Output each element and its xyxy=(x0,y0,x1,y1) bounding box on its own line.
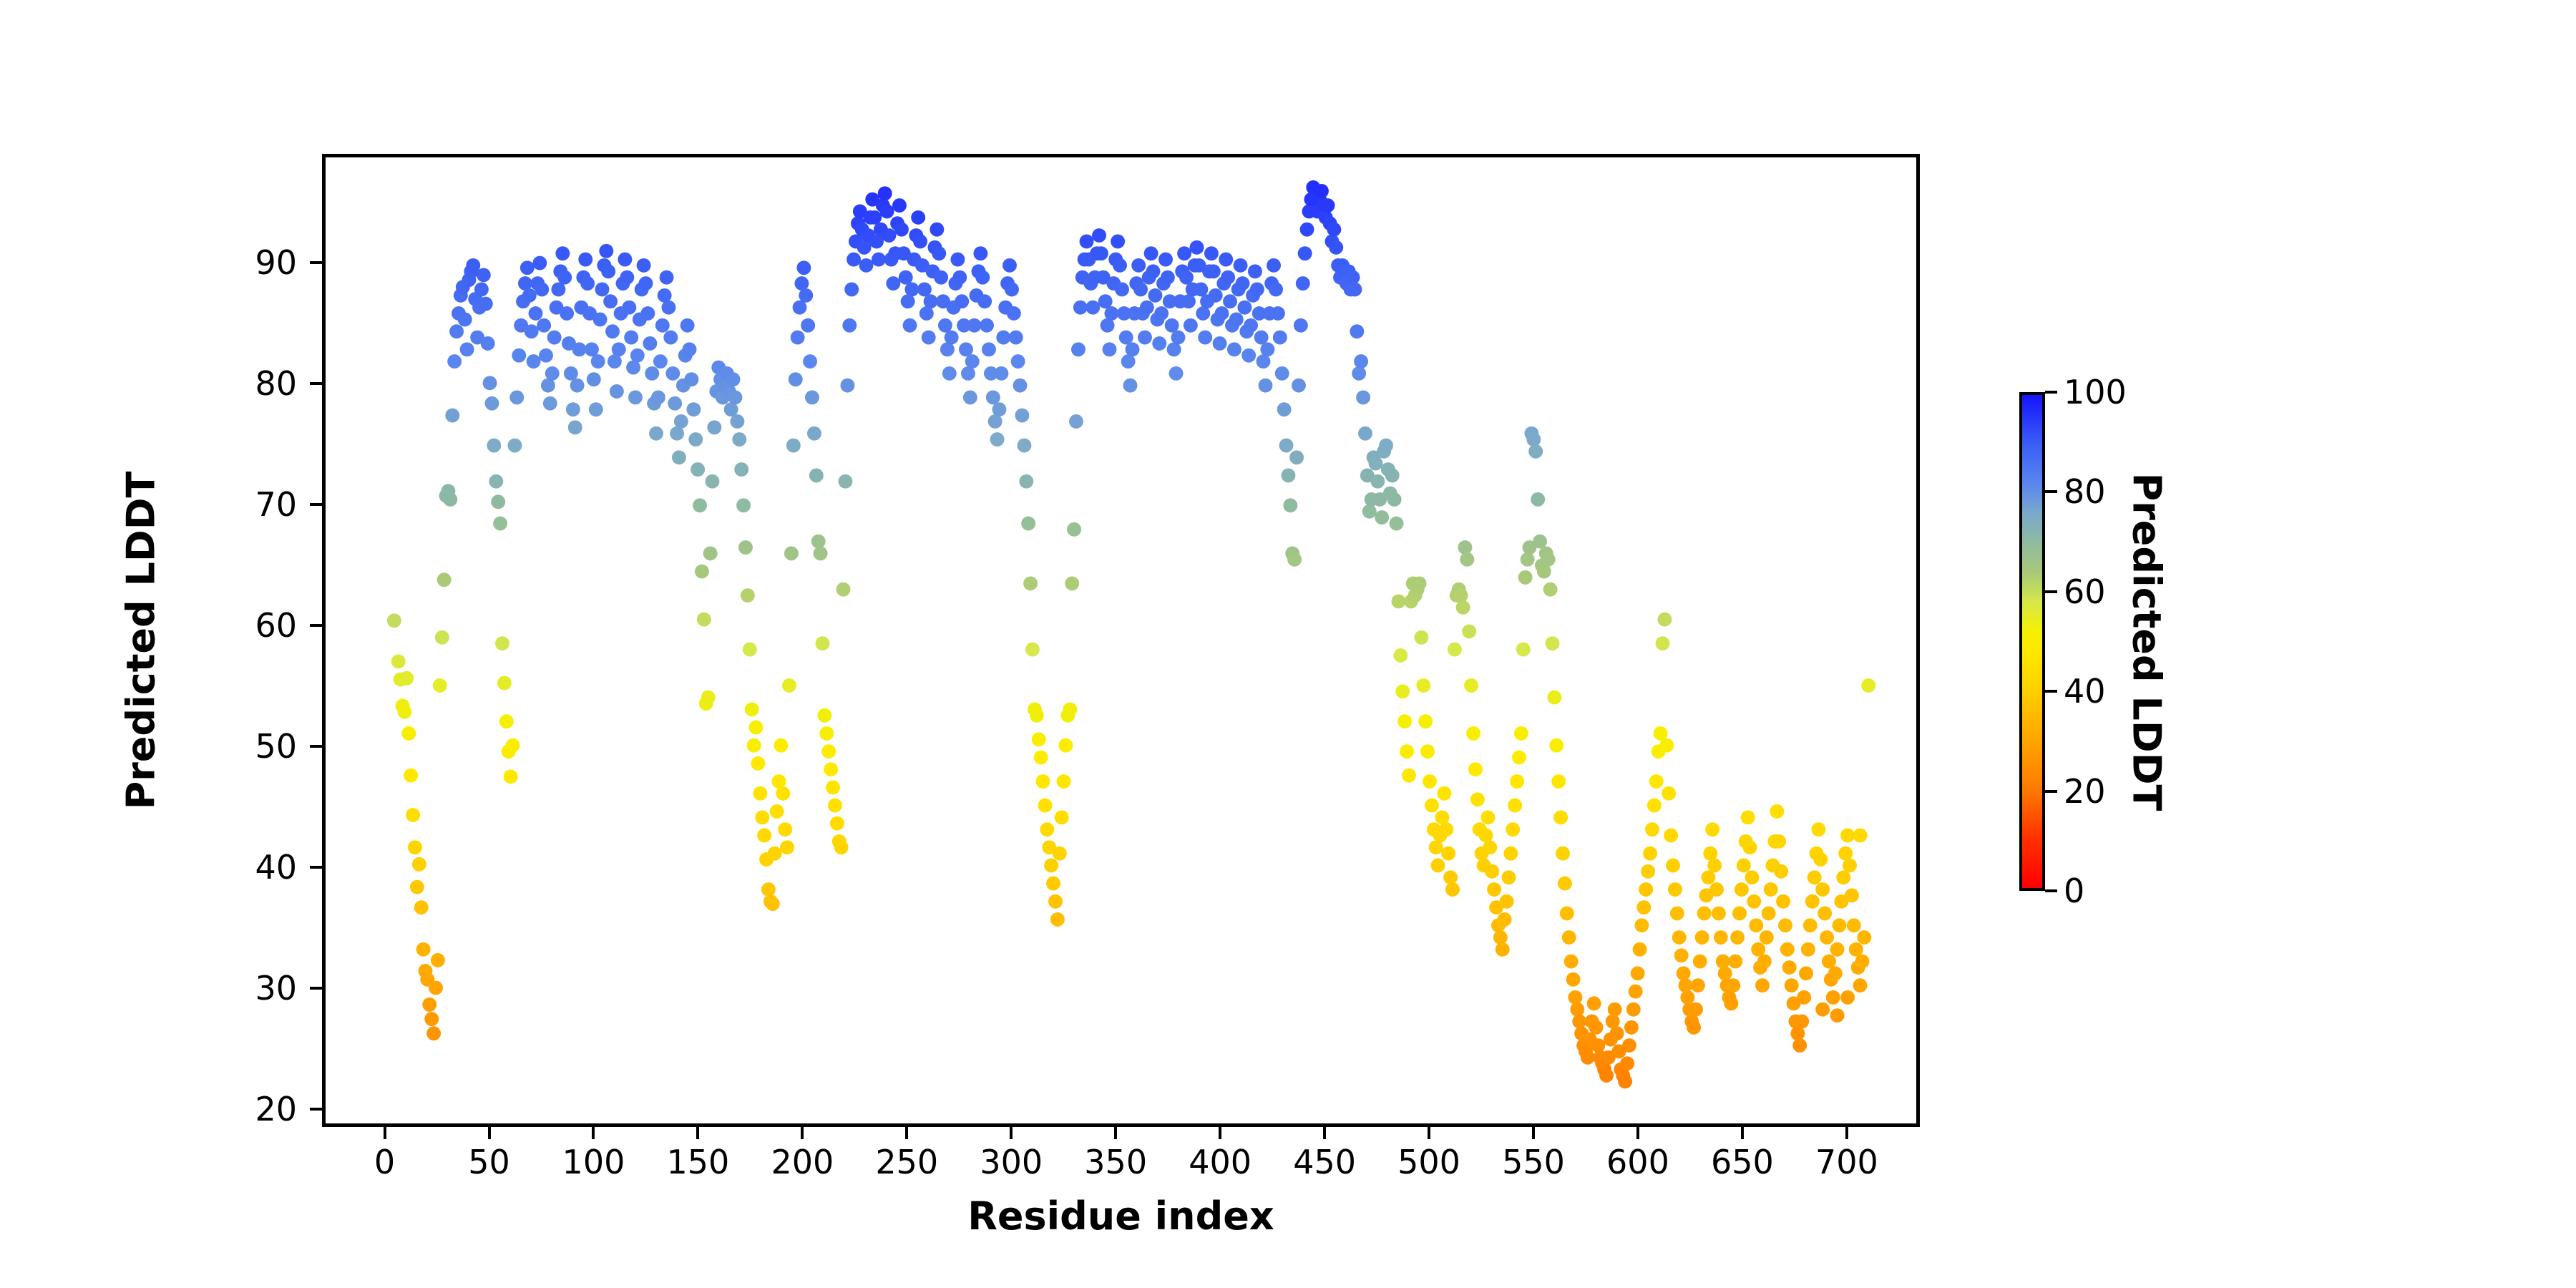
scatter-point xyxy=(1785,978,1799,992)
scatter-point xyxy=(1581,1050,1595,1065)
scatter-point xyxy=(674,414,688,429)
scatter-point xyxy=(911,210,925,225)
scatter-point xyxy=(1656,636,1670,650)
y-tick-label: 20 xyxy=(255,1090,297,1128)
scatter-point xyxy=(1215,306,1229,321)
scatter-point xyxy=(1803,918,1818,932)
colorbar-tick-label: 20 xyxy=(2064,772,2106,811)
scatter-point xyxy=(1283,498,1297,512)
scatter-point xyxy=(844,283,859,297)
scatter-point xyxy=(1466,726,1480,741)
x-tick-mark xyxy=(1010,1127,1013,1139)
scatter-point xyxy=(1423,774,1437,789)
x-tick-mark xyxy=(1636,1127,1639,1139)
scatter-point xyxy=(1737,859,1751,873)
scatter-point xyxy=(660,270,674,285)
scatter-point xyxy=(1234,258,1248,273)
y-tick-label: 80 xyxy=(255,364,297,403)
scatter-point xyxy=(570,379,585,393)
scatter-point xyxy=(1133,283,1148,297)
scatter-point xyxy=(568,420,582,434)
scatter-point xyxy=(1431,859,1445,873)
scatter-point xyxy=(1672,930,1687,945)
x-axis-label: Residue index xyxy=(322,1194,1920,1239)
scatter-point xyxy=(1774,864,1788,879)
scatter-point xyxy=(1269,283,1283,297)
scatter-point xyxy=(1818,907,1832,921)
scatter-point xyxy=(1568,990,1582,1005)
scatter-point xyxy=(1184,318,1198,333)
scatter-point xyxy=(1847,918,1861,932)
scatter-point xyxy=(1013,379,1028,393)
scatter-point xyxy=(1674,948,1689,962)
scatter-point xyxy=(618,253,632,267)
scatter-point xyxy=(686,402,701,416)
scatter-point xyxy=(663,331,678,345)
scatter-point xyxy=(661,301,675,315)
scatter-point xyxy=(726,372,741,386)
scatter-point xyxy=(431,953,445,967)
scatter-point xyxy=(406,808,420,822)
scatter-point xyxy=(1487,882,1501,897)
scatter-point xyxy=(1391,595,1405,609)
scatter-point xyxy=(805,390,819,404)
scatter-point xyxy=(1002,258,1017,273)
scatter-point xyxy=(1506,822,1520,836)
x-tick-mark xyxy=(1532,1127,1535,1139)
scatter-point xyxy=(882,228,897,243)
scatter-point xyxy=(738,540,753,555)
scatter-point xyxy=(982,342,996,356)
scatter-point xyxy=(1861,678,1875,693)
scatter-point xyxy=(684,372,698,386)
x-tick-mark xyxy=(1845,1127,1848,1139)
scatter-point xyxy=(1556,847,1570,861)
scatter-point xyxy=(880,205,894,219)
scatter-point xyxy=(1395,684,1410,698)
scatter-point xyxy=(743,643,757,657)
x-tick-mark xyxy=(905,1127,908,1139)
scatter-point xyxy=(1620,1056,1634,1070)
scatter-point xyxy=(842,318,857,333)
scatter-point xyxy=(728,390,742,404)
scatter-point xyxy=(672,450,686,464)
scatter-point xyxy=(780,840,794,854)
scatter-point xyxy=(591,354,605,369)
scatter-point xyxy=(1005,283,1019,297)
scatter-point xyxy=(1776,894,1790,909)
scatter-point xyxy=(484,396,499,411)
scatter-point xyxy=(399,671,414,686)
scatter-point xyxy=(1279,439,1294,453)
scatter-point xyxy=(996,331,1010,345)
scatter-point xyxy=(1171,331,1185,345)
scatter-point xyxy=(1445,882,1460,897)
y-tick-mark xyxy=(310,261,322,264)
scatter-point xyxy=(599,244,613,258)
scatter-point xyxy=(1229,312,1244,326)
colorbar: 020406080100 xyxy=(2019,392,2045,891)
scatter-points-layer xyxy=(326,157,1916,1123)
scatter-point xyxy=(782,678,796,693)
scatter-point xyxy=(693,498,707,512)
scatter-point xyxy=(1830,1008,1845,1023)
scatter-point xyxy=(955,294,969,308)
x-tick-mark xyxy=(1219,1127,1221,1139)
scatter-point xyxy=(605,324,620,338)
scatter-point xyxy=(1610,1026,1624,1040)
scatter-point xyxy=(1400,744,1414,758)
scatter-point xyxy=(836,582,851,597)
scatter-point xyxy=(412,857,426,872)
scatter-point xyxy=(474,283,489,297)
scatter-point xyxy=(741,588,755,602)
scatter-point xyxy=(899,270,913,285)
x-tick-mark xyxy=(1428,1127,1430,1139)
scatter-point xyxy=(509,390,524,404)
scatter-point xyxy=(1792,1038,1807,1053)
scatter-point xyxy=(1460,552,1474,567)
scatter-point xyxy=(1354,354,1368,369)
scatter-point xyxy=(1271,306,1285,321)
scatter-point xyxy=(1275,366,1289,381)
colorbar-tick-mark xyxy=(2045,490,2057,493)
scatter-point xyxy=(1485,864,1499,879)
scatter-point xyxy=(1206,264,1221,278)
scatter-point xyxy=(1025,643,1040,657)
scatter-point xyxy=(977,294,992,308)
figure-canvas: 0501001502002503003504004505005506006507… xyxy=(0,0,2576,1288)
scatter-point xyxy=(749,721,763,735)
scatter-point xyxy=(1659,738,1674,753)
scatter-point xyxy=(1599,1068,1614,1083)
colorbar-gradient xyxy=(2019,392,2045,891)
scatter-point xyxy=(878,186,892,200)
scatter-point xyxy=(1680,990,1694,1005)
scatter-point xyxy=(630,348,645,363)
scatter-point xyxy=(945,331,959,345)
scatter-point xyxy=(1591,1038,1605,1053)
scatter-point xyxy=(1701,870,1715,884)
scatter-point xyxy=(1470,792,1485,806)
scatter-point xyxy=(894,223,909,237)
scatter-point xyxy=(886,276,900,291)
scatter-point xyxy=(1618,1074,1632,1088)
scatter-point xyxy=(1549,738,1563,753)
scatter-point xyxy=(433,678,447,693)
scatter-point xyxy=(543,396,557,411)
scatter-point xyxy=(537,318,551,333)
scatter-point xyxy=(1144,246,1158,260)
scatter-point xyxy=(1369,457,1383,471)
scatter-point xyxy=(1007,306,1021,321)
scatter-point xyxy=(491,494,505,509)
scatter-point xyxy=(495,636,509,650)
scatter-point xyxy=(680,318,695,333)
scatter-point xyxy=(1103,342,1117,356)
scatter-point xyxy=(1500,894,1514,909)
scatter-point xyxy=(965,354,980,369)
scatter-point xyxy=(1743,840,1757,854)
scatter-point xyxy=(1259,379,1273,393)
scatter-point xyxy=(1716,955,1730,969)
scatter-point xyxy=(938,318,952,333)
scatter-point xyxy=(1815,1002,1830,1017)
scatter-point xyxy=(653,354,668,369)
scatter-point xyxy=(1161,270,1175,285)
scatter-point xyxy=(1009,331,1023,345)
x-tick-label: 600 xyxy=(1606,1143,1669,1181)
scatter-point xyxy=(799,288,813,303)
scatter-point xyxy=(1728,955,1742,969)
scatter-point xyxy=(1034,751,1048,765)
scatter-point xyxy=(768,847,782,861)
scatter-point xyxy=(959,342,973,356)
scatter-point xyxy=(816,636,830,650)
scatter-point xyxy=(1533,535,1547,549)
scatter-point xyxy=(1551,774,1566,789)
scatter-point xyxy=(1689,1002,1703,1017)
scatter-point xyxy=(1641,864,1655,879)
colorbar-tick-label: 100 xyxy=(2064,373,2127,411)
scatter-point xyxy=(1677,966,1691,980)
scatter-point xyxy=(1840,829,1855,843)
scatter-point xyxy=(612,342,626,356)
scatter-point xyxy=(1204,246,1219,260)
scatter-point xyxy=(932,246,946,260)
scatter-point xyxy=(1221,270,1235,285)
scatter-point xyxy=(1670,907,1684,921)
scatter-point xyxy=(1292,379,1306,393)
x-tick-mark xyxy=(801,1127,804,1139)
scatter-point xyxy=(466,258,480,273)
scatter-point xyxy=(1668,882,1682,897)
scatter-point xyxy=(1057,774,1071,789)
scatter-point xyxy=(828,799,842,813)
scatter-point xyxy=(1362,504,1377,519)
x-tick-label: 50 xyxy=(468,1143,510,1181)
scatter-point xyxy=(1085,301,1100,315)
scatter-point xyxy=(1227,342,1241,356)
scatter-point xyxy=(1566,972,1581,987)
scatter-point xyxy=(481,336,495,351)
scatter-point xyxy=(986,390,1000,404)
scatter-point xyxy=(811,535,826,549)
scatter-point xyxy=(1562,930,1576,945)
scatter-point xyxy=(1158,253,1173,267)
scatter-point xyxy=(1165,318,1179,333)
scatter-point xyxy=(1094,246,1108,260)
scatter-point xyxy=(532,256,547,270)
y-tick-label: 30 xyxy=(255,969,297,1008)
scatter-point xyxy=(649,426,663,441)
scatter-point xyxy=(522,288,537,303)
scatter-point xyxy=(1154,306,1169,321)
scatter-point xyxy=(1726,978,1740,992)
scatter-point xyxy=(610,384,624,399)
scatter-point xyxy=(745,702,759,716)
scatter-point xyxy=(1828,966,1843,980)
scatter-point xyxy=(1030,708,1044,723)
scatter-point xyxy=(1516,643,1531,657)
scatter-point xyxy=(655,318,670,333)
scatter-point xyxy=(1048,894,1063,909)
scatter-point xyxy=(838,474,852,489)
scatter-point xyxy=(1801,942,1815,957)
scatter-point xyxy=(1560,907,1574,921)
y-tick-label: 40 xyxy=(255,848,297,887)
scatter-point xyxy=(1456,600,1470,615)
scatter-point xyxy=(1735,882,1749,897)
scatter-point xyxy=(504,769,518,784)
scatter-point xyxy=(994,366,1008,381)
scatter-point xyxy=(1443,870,1458,884)
scatter-point xyxy=(1845,888,1859,902)
scatter-point xyxy=(967,318,982,333)
y-tick-label: 70 xyxy=(255,485,297,524)
scatter-point xyxy=(1639,882,1653,897)
x-tick-mark xyxy=(592,1127,595,1139)
scatter-point xyxy=(793,301,807,315)
scatter-point xyxy=(761,882,776,897)
scatter-point xyxy=(1250,283,1264,297)
scatter-point xyxy=(1458,540,1472,555)
scatter-point xyxy=(1209,288,1223,303)
scatter-point xyxy=(1329,240,1343,255)
x-tick-label: 350 xyxy=(1084,1143,1147,1181)
scatter-point xyxy=(1724,996,1738,1010)
scatter-point xyxy=(774,738,788,753)
scatter-point xyxy=(414,900,429,914)
scatter-point xyxy=(1564,955,1579,969)
scatter-point xyxy=(493,517,507,531)
scatter-point xyxy=(1046,877,1060,891)
scatter-point xyxy=(1223,294,1237,308)
scatter-point xyxy=(1441,847,1455,861)
scatter-point xyxy=(826,781,840,795)
scatter-point xyxy=(904,283,919,297)
scatter-point xyxy=(1709,882,1724,897)
scatter-point xyxy=(506,738,520,753)
scatter-point xyxy=(1402,769,1416,783)
scatter-point xyxy=(410,880,424,894)
scatter-point xyxy=(1015,409,1029,423)
scatter-point xyxy=(1346,270,1360,285)
scatter-point xyxy=(477,268,491,282)
scatter-point xyxy=(1849,942,1863,957)
scatter-point xyxy=(1040,822,1054,836)
scatter-point xyxy=(1483,840,1497,854)
scatter-point xyxy=(867,210,882,225)
scatter-point xyxy=(603,294,618,308)
x-tick-mark xyxy=(1114,1127,1117,1139)
scatter-point xyxy=(1321,198,1335,213)
scatter-point xyxy=(1521,552,1535,567)
scatter-point xyxy=(1813,852,1828,867)
scatter-point xyxy=(1017,439,1031,453)
scatter-point xyxy=(1645,822,1659,836)
scatter-point xyxy=(1547,691,1561,705)
scatter-point xyxy=(628,390,643,404)
scatter-point xyxy=(1707,859,1722,873)
scatter-point xyxy=(1073,301,1088,315)
x-tick-label: 500 xyxy=(1397,1143,1460,1181)
scatter-point xyxy=(564,366,578,381)
scatter-point xyxy=(489,474,503,489)
scatter-point xyxy=(1105,306,1119,321)
x-tick-label: 300 xyxy=(980,1143,1043,1181)
scatter-point xyxy=(1666,859,1680,873)
scatter-point xyxy=(1152,336,1166,351)
scatter-point xyxy=(447,354,462,369)
scatter-point xyxy=(1021,517,1035,531)
colorbar-tick-label: 40 xyxy=(2064,672,2106,711)
scatter-point xyxy=(651,390,665,404)
scatter-point xyxy=(789,372,803,386)
scatter-point xyxy=(1044,859,1058,873)
scatter-point xyxy=(1352,366,1366,381)
colorbar-tick-mark xyxy=(2045,790,2057,793)
scatter-point xyxy=(1397,714,1412,728)
x-tick-label: 700 xyxy=(1815,1143,1878,1181)
scatter-point xyxy=(1065,576,1079,590)
scatter-point xyxy=(732,432,746,447)
scatter-point xyxy=(1237,301,1252,315)
scatter-point xyxy=(458,312,472,326)
x-tick-label: 450 xyxy=(1293,1143,1356,1181)
scatter-point xyxy=(924,294,938,308)
scatter-point xyxy=(566,402,580,416)
scatter-point xyxy=(1260,342,1274,356)
scatter-point xyxy=(819,726,834,741)
x-tick-label: 250 xyxy=(875,1143,938,1181)
scatter-point xyxy=(1113,258,1127,273)
scatter-point xyxy=(1855,955,1869,969)
scatter-point xyxy=(755,810,769,824)
x-tick-label: 100 xyxy=(562,1143,625,1181)
scatter-point xyxy=(560,306,574,321)
scatter-point xyxy=(404,769,418,783)
scatter-point xyxy=(1570,1002,1584,1017)
scatter-point xyxy=(1778,918,1792,932)
scatter-point xyxy=(1496,942,1510,957)
scatter-point xyxy=(601,264,615,278)
scatter-point xyxy=(529,306,543,321)
scatter-point xyxy=(1558,877,1572,891)
scatter-point xyxy=(622,301,636,315)
y-tick-label: 90 xyxy=(255,243,297,282)
scatter-point xyxy=(1741,810,1755,824)
scatter-point xyxy=(821,744,836,758)
scatter-point xyxy=(1267,258,1281,273)
scatter-point xyxy=(1439,822,1453,836)
scatter-point xyxy=(1815,882,1830,897)
scatter-point xyxy=(1327,223,1341,237)
scatter-point xyxy=(1797,990,1811,1005)
scatter-point xyxy=(801,318,815,333)
scatter-point xyxy=(1055,810,1069,824)
scatter-point xyxy=(807,426,821,441)
scatter-point xyxy=(1273,331,1287,345)
scatter-point xyxy=(1370,474,1385,489)
scatter-point xyxy=(1179,270,1194,285)
x-tick-label: 200 xyxy=(771,1143,834,1181)
y-tick-mark xyxy=(310,503,322,506)
x-tick-mark xyxy=(384,1127,386,1139)
scatter-point xyxy=(1514,726,1528,741)
scatter-point xyxy=(1503,847,1518,861)
scatter-point xyxy=(1111,235,1125,249)
